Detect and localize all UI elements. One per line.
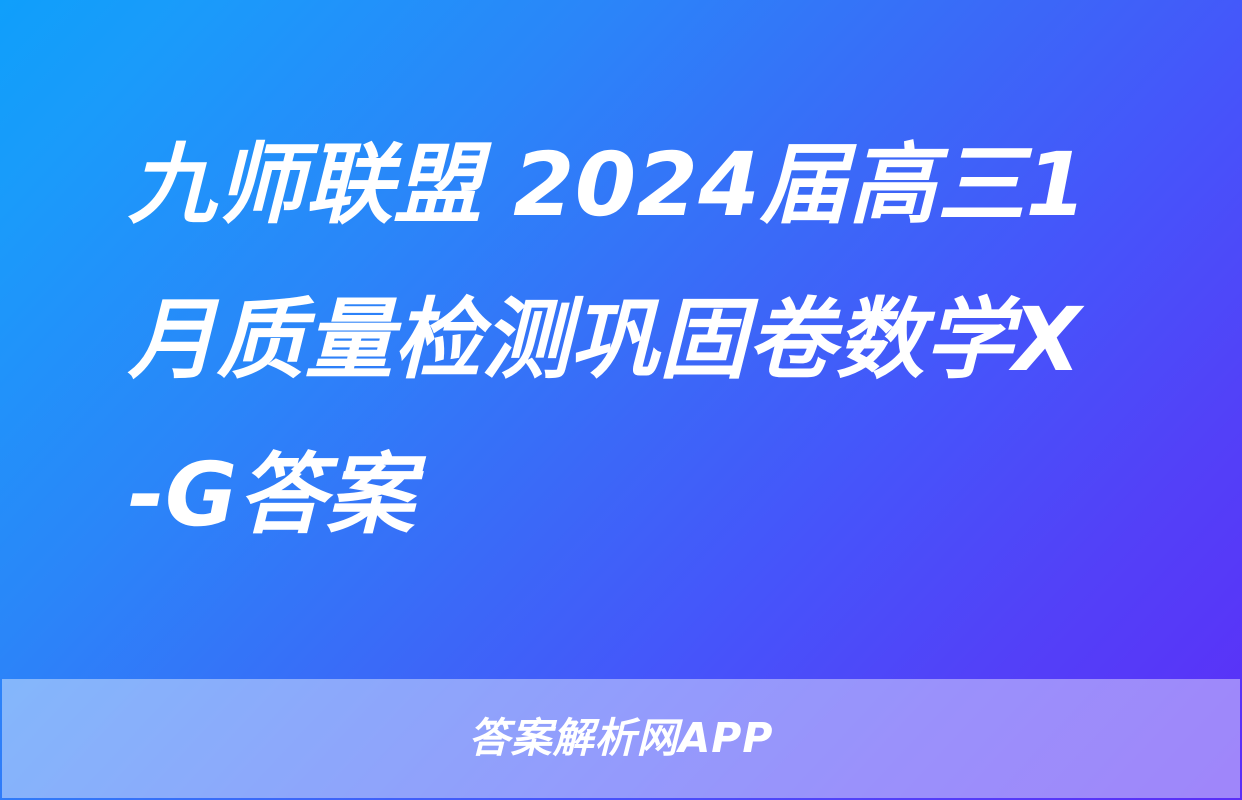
- title-line-1: 九师联盟 2024届高三1: [128, 107, 1142, 262]
- title-line-2: 月质量检测巩固卷数学X: [128, 262, 1142, 417]
- title-line-3: -G答案: [128, 417, 1142, 572]
- poster-canvas: 九师联盟 2024届高三1 月质量检测巩固卷数学X -G答案 答案解析网APP: [0, 0, 1242, 800]
- footer-app-label: 答案解析网APP: [469, 718, 774, 759]
- footer-band: 答案解析网APP: [2, 679, 1240, 798]
- title-block: 九师联盟 2024届高三1 月质量检测巩固卷数学X -G答案: [0, 0, 1242, 679]
